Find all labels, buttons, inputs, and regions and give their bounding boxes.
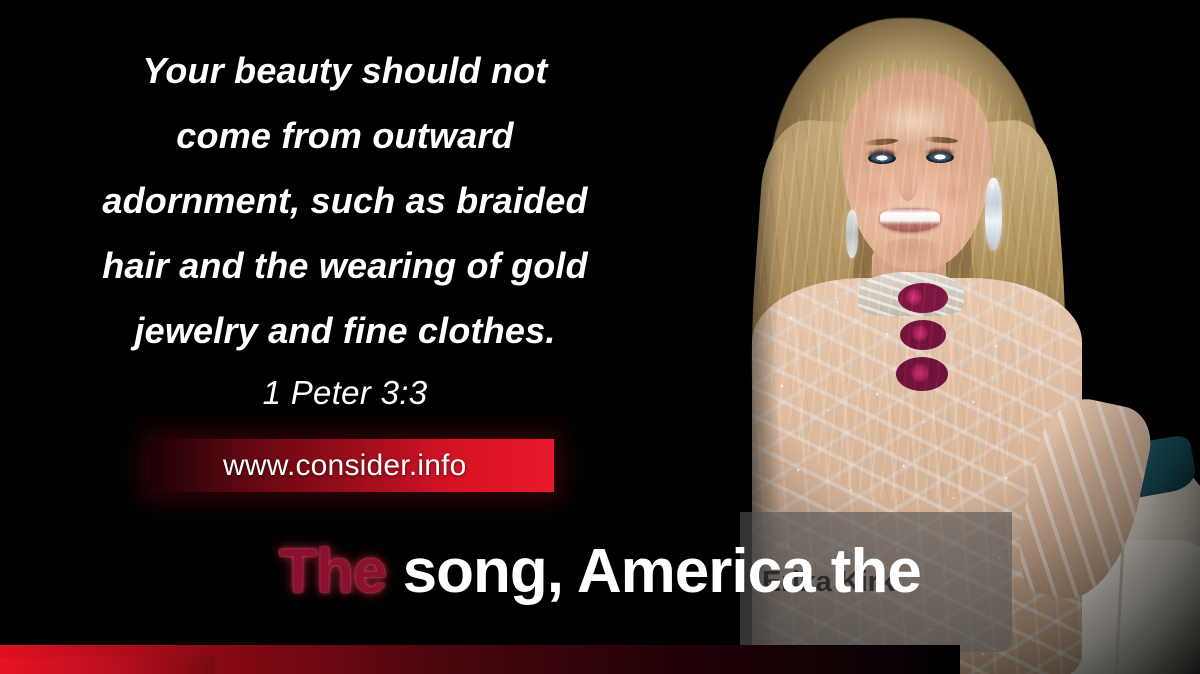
caption-highlight-word: The [279, 537, 386, 606]
scripture-quote-block: Your beauty should not come from outward… [0, 38, 690, 423]
website-url-banner[interactable]: www.consider.info [150, 439, 554, 492]
bottom-accent-bar-step [0, 657, 215, 674]
scripture-line: adornment, such as braided [0, 168, 690, 233]
hair-strand-texture [760, 60, 1060, 500]
video-frame: Erika Kirk Your beauty should not come f… [0, 0, 1200, 674]
scripture-line: Your beauty should not [0, 38, 690, 103]
scripture-reference: 1 Peter 3:3 [0, 363, 690, 423]
scripture-line: come from outward [0, 103, 690, 168]
subtitle-caption: The song, America the [0, 534, 1200, 610]
scripture-line: jewelry and fine clothes. [0, 298, 690, 363]
caption-rest-text: song, America the [386, 537, 920, 606]
website-url-text: www.consider.info [223, 449, 467, 483]
scripture-line: hair and the wearing of gold [0, 233, 690, 298]
